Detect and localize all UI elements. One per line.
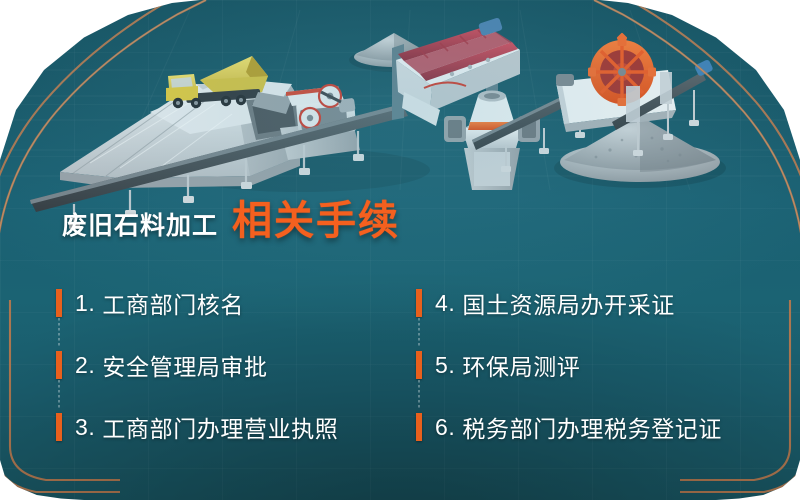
concrete-feed-ramp bbox=[60, 78, 302, 188]
list-item-index: 1. bbox=[75, 290, 95, 317]
bullet-bar-icon bbox=[416, 413, 422, 441]
gravel-stockpile bbox=[560, 116, 720, 182]
list-item-label: 环保局测评 bbox=[462, 348, 580, 382]
jaw-crusher bbox=[280, 85, 360, 160]
list-item: 1. 工商部门核名 bbox=[56, 272, 416, 334]
bullet-bar-icon bbox=[56, 289, 62, 317]
teal-panel: 废旧石料加工 相关手续 1. 工商部门核名 4. 国土资源局办开采证 2. 安全… bbox=[0, 0, 800, 500]
bullet-bar-icon bbox=[416, 289, 422, 317]
title-prefix: 废旧石料加工 bbox=[62, 206, 218, 242]
gravel-stockpile-small bbox=[354, 33, 434, 67]
list-item-index: 5. bbox=[435, 352, 455, 379]
list-item-index: 2. bbox=[75, 352, 95, 379]
conveyor-support-tower bbox=[626, 72, 672, 122]
title-emphasis: 相关手续 bbox=[232, 201, 400, 241]
bullet-bar-icon bbox=[56, 351, 62, 379]
list-item: 2. 安全管理局审批 bbox=[56, 334, 416, 396]
list-item-label: 税务部门办理税务登记证 bbox=[462, 410, 722, 444]
sand-washer-wheel bbox=[556, 32, 714, 156]
list-item-label: 国土资源局办开采证 bbox=[462, 286, 674, 320]
procedure-list: 1. 工商部门核名 4. 国土资源局办开采证 2. 安全管理局审批 5. 环保局… bbox=[56, 272, 756, 458]
list-item-index: 3. bbox=[75, 414, 95, 441]
bullet-bar-icon bbox=[416, 351, 422, 379]
list-item-label: 工商部门办理营业执照 bbox=[102, 410, 338, 444]
list-item-label: 安全管理局审批 bbox=[102, 348, 267, 382]
bullet-bar-icon bbox=[56, 413, 62, 441]
list-item: 5. 环保局测评 bbox=[416, 334, 756, 396]
cone-crusher bbox=[444, 91, 540, 191]
dump-truck bbox=[166, 56, 292, 114]
list-item-index: 6. bbox=[435, 414, 455, 441]
list-item-label: 工商部门核名 bbox=[102, 286, 244, 320]
page-title: 废旧石料加工 相关手续 bbox=[62, 201, 400, 247]
infographic-banner: 废旧石料加工 相关手续 1. 工商部门核名 4. 国土资源局办开采证 2. 安全… bbox=[0, 0, 800, 500]
list-item: 6. 税务部门办理税务登记证 bbox=[416, 396, 756, 458]
belt-conveyor-upper bbox=[472, 78, 604, 172]
list-item-index: 4. bbox=[435, 290, 455, 317]
list-item: 4. 国土资源局办开采证 bbox=[416, 272, 756, 334]
vibrating-screen bbox=[392, 17, 520, 126]
list-item: 3. 工商部门办理营业执照 bbox=[56, 396, 416, 458]
